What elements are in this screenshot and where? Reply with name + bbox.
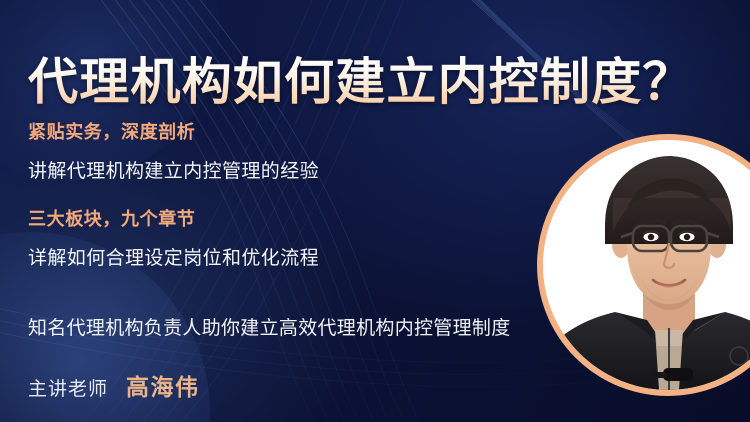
feature-subtext: 讲解代理机构建立内控管理的经验 xyxy=(28,156,528,183)
feature-subtext: 详解如何合理设定岗位和优化流程 xyxy=(28,243,528,270)
page-title: 代理机构如何建立内控制度？ xyxy=(28,56,694,109)
feature-heading: 紧贴实务，深度剖析 xyxy=(28,118,528,144)
feature-heading: 三大板块，九个章节 xyxy=(28,205,528,231)
instructor-name: 高海伟 xyxy=(126,368,200,402)
instructor-portrait xyxy=(537,134,750,396)
portrait-illustration xyxy=(543,140,750,390)
feature-item: 三大板块，九个章节 详解如何合理设定岗位和优化流程 xyxy=(28,205,528,270)
portrait-clip xyxy=(543,140,750,390)
promo-banner: 代理机构如何建立内控制度？ 紧贴实务，深度剖析 讲解代理机构建立内控管理的经验 … xyxy=(0,0,750,422)
instructor-label: 主讲老师 xyxy=(28,374,108,401)
feature-item: 紧贴实务，深度剖析 讲解代理机构建立内控管理的经验 xyxy=(28,118,528,183)
tagline: 知名代理机构负责人助你建立高效代理机构内控管理制度 xyxy=(28,313,511,340)
portrait-ring xyxy=(537,134,750,396)
instructor-line: 主讲老师 高海伟 xyxy=(28,368,200,402)
feature-list: 紧贴实务，深度剖析 讲解代理机构建立内控管理的经验 三大板块，九个章节 详解如何… xyxy=(28,118,528,292)
